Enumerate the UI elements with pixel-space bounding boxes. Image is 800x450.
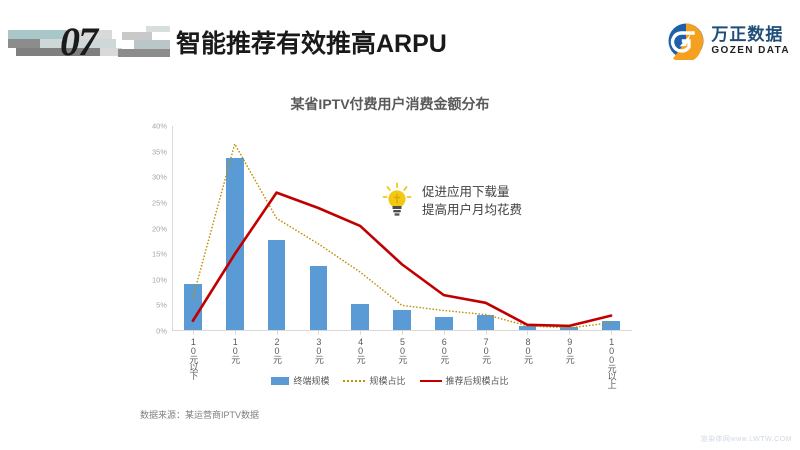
- y-axis-tick-label: 15%: [152, 250, 167, 259]
- chart-line-dotted: [193, 144, 611, 328]
- chart-legend: 终端规模规模占比推荐后规模占比: [120, 374, 660, 387]
- x-axis-tick-label: 50元: [398, 337, 407, 363]
- header-deco-bar-9: [134, 40, 170, 49]
- legend-item[interactable]: 规模占比: [343, 374, 405, 387]
- x-axis-tick-label: 10元以下: [188, 337, 197, 379]
- x-axis-tick-label: 20元: [272, 337, 281, 363]
- legend-swatch-icon: [420, 380, 442, 382]
- callout-annotation: 促进应用下载量 提高用户月均花费: [382, 182, 522, 220]
- y-axis-tick-label: 10%: [152, 275, 167, 284]
- legend-item[interactable]: 推荐后规模占比: [420, 374, 509, 387]
- x-axis-tick: [611, 331, 612, 335]
- x-axis-tick: [444, 331, 445, 335]
- callout-line-1: 促进应用下载量: [422, 183, 522, 201]
- brand-logo-text: 万正数据 GOZEN DATA: [711, 26, 790, 56]
- x-axis-tick-label: 80元: [523, 337, 532, 363]
- x-axis-tick: [235, 331, 236, 335]
- legend-item[interactable]: 终端规模: [271, 374, 329, 387]
- x-axis-tick: [569, 331, 570, 335]
- slide-number: 07: [60, 18, 96, 65]
- chart-plot-area: 0%5%10%15%20%25%30%35%40% 10元以下10元20元30元…: [172, 126, 632, 331]
- y-axis-tick-label: 40%: [152, 122, 167, 131]
- x-axis-tick: [193, 331, 194, 335]
- slide-root: 07 智能推荐有效推高ARPU 万正数据 GOZEN DATA: [0, 0, 800, 450]
- x-axis-tick: [360, 331, 361, 335]
- callout-text: 促进应用下载量 提高用户月均花费: [422, 183, 522, 219]
- x-axis-tick: [277, 331, 278, 335]
- y-axis-tick-label: 0%: [156, 327, 167, 336]
- header-deco-bar-1: [8, 30, 66, 39]
- lightbulb-icon: [382, 182, 412, 220]
- chart-title: 某省IPTV付费用户消费金额分布: [120, 94, 660, 114]
- x-axis-tick: [402, 331, 403, 335]
- x-axis-tick-label: 70元: [481, 337, 490, 363]
- legend-label: 终端规模: [293, 374, 329, 387]
- x-axis-tick-label: 90元: [565, 337, 574, 363]
- line-series-group: [172, 126, 632, 331]
- x-axis-tick-label: 40元: [356, 337, 365, 363]
- header-deco-bar-10: [118, 49, 170, 57]
- x-axis-tick-label: 10元: [230, 337, 239, 363]
- x-axis-tick: [318, 331, 319, 335]
- brand-name-en: GOZEN DATA: [711, 46, 790, 56]
- brand-name-cn: 万正数据: [711, 26, 790, 43]
- x-axis-tick: [486, 331, 487, 335]
- x-axis-tick: [527, 331, 528, 335]
- legend-swatch-icon: [343, 380, 365, 382]
- y-axis-tick-label: 30%: [152, 173, 167, 182]
- watermark: 渲染体网www.LWTW.COM: [701, 434, 792, 444]
- legend-swatch-icon: [271, 377, 289, 385]
- slide-header: 07 智能推荐有效推高ARPU 万正数据 GOZEN DATA: [0, 0, 800, 78]
- chart-container: 某省IPTV付费用户消费金额分布 0%5%10%15%20%25%30%35%4…: [120, 86, 660, 406]
- callout-line-2: 提高用户月均花费: [422, 201, 522, 219]
- x-axis-tick-label: 30元: [314, 337, 323, 363]
- header-deco-bar-3: [8, 39, 40, 48]
- y-axis-tick-label: 25%: [152, 198, 167, 207]
- page-title: 智能推荐有效推高ARPU: [176, 24, 447, 60]
- legend-label: 推荐后规模占比: [446, 374, 509, 387]
- gozen-g-mark-icon: [667, 22, 705, 60]
- y-axis-tick-label: 35%: [152, 147, 167, 156]
- brand-logo: 万正数据 GOZEN DATA: [667, 20, 790, 62]
- header-deco-bar-8: [122, 32, 152, 40]
- source-note: 数据来源：某运营商IPTV数据: [140, 408, 259, 421]
- x-axis-tick-label: 60元: [439, 337, 448, 363]
- legend-label: 规模占比: [369, 374, 405, 387]
- y-axis-tick-label: 5%: [156, 301, 167, 310]
- y-axis-tick-label: 20%: [152, 224, 167, 233]
